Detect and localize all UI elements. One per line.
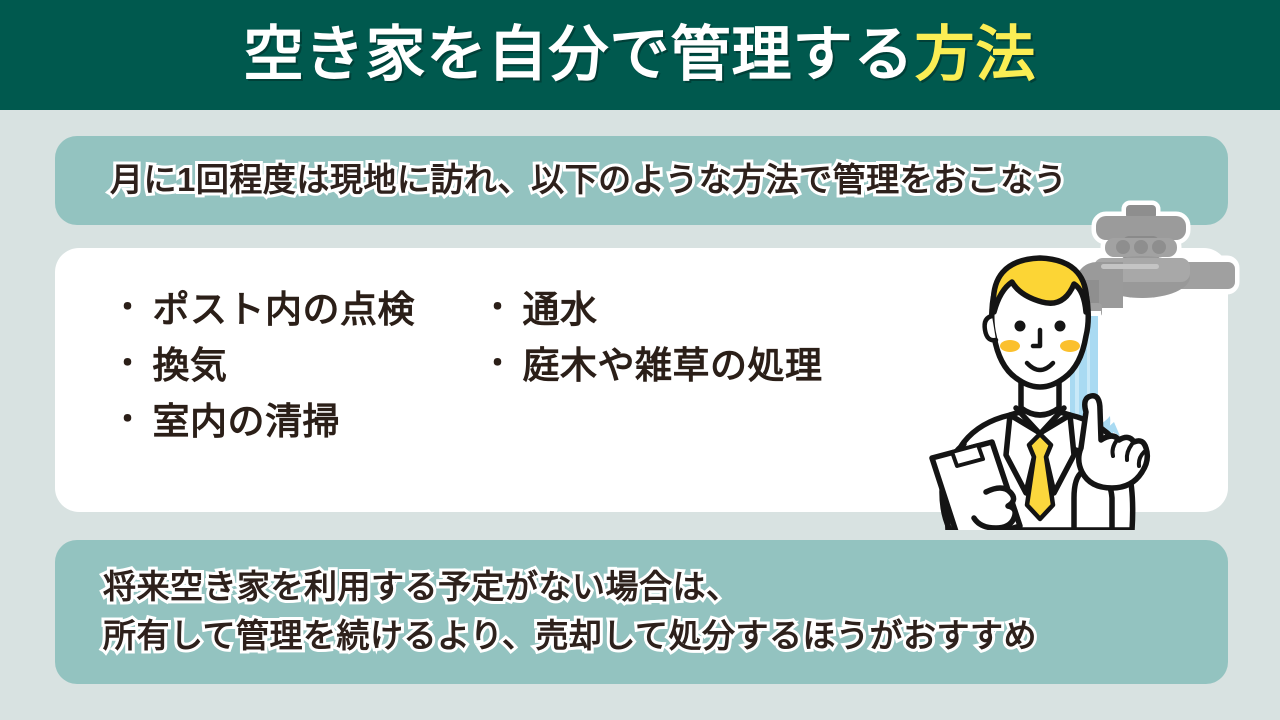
list-item: ・ 室内の清掃 bbox=[112, 394, 482, 450]
list-item: ・ 換気 bbox=[112, 338, 482, 394]
conclusion-line-2: 所有して管理を続けるより、売却して処分するほうがおすすめ bbox=[103, 617, 1228, 656]
list-item-label: 庭木や雑草の処理 bbox=[523, 338, 823, 394]
intro-band-text: 月に1回程度は現地に訪れ、以下のような方法で管理をおこなう bbox=[110, 161, 1067, 200]
methods-column-right: ・ 通水 ・ 庭木や雑草の処理 bbox=[482, 282, 912, 451]
list-item-label: 換気 bbox=[153, 338, 228, 394]
conclusion-band: 将来空き家を利用する予定がない場合は、 所有して管理を続けるより、売却して処分す… bbox=[55, 540, 1228, 684]
list-item: ・ 庭木や雑草の処理 bbox=[482, 338, 912, 394]
intro-band: 月に1回程度は現地に訪れ、以下のような方法で管理をおこなう bbox=[55, 136, 1228, 225]
bullet-dot-icon: ・ bbox=[482, 348, 514, 379]
page-header: 空き家を自分で管理する方法 bbox=[0, 0, 1280, 110]
list-item-label: 通水 bbox=[523, 282, 598, 338]
list-item-label: ポスト内の点検 bbox=[153, 282, 416, 338]
list-item-label: 室内の清掃 bbox=[153, 394, 341, 450]
bullet-dot-icon: ・ bbox=[112, 348, 144, 379]
page-title-plain: 空き家を自分で管理する bbox=[244, 21, 915, 88]
methods-column-left: ・ ポスト内の点検 ・ 換気 ・ 室内の清掃 bbox=[112, 282, 482, 451]
methods-bullet-columns: ・ ポスト内の点検 ・ 換気 ・ 室内の清掃 ・ 通水 ・ 庭木や雑草の処理 bbox=[112, 282, 912, 451]
bullet-dot-icon: ・ bbox=[112, 404, 144, 435]
bullet-dot-icon: ・ bbox=[112, 292, 144, 323]
bullet-dot-icon: ・ bbox=[482, 292, 514, 323]
page-title-highlight: 方法 bbox=[915, 21, 1037, 88]
list-item: ・ ポスト内の点検 bbox=[112, 282, 482, 338]
conclusion-line-1: 将来空き家を利用する予定がない場合は、 bbox=[103, 568, 1228, 607]
list-item: ・ 通水 bbox=[482, 282, 912, 338]
page-title: 空き家を自分で管理する方法 bbox=[244, 25, 1037, 85]
